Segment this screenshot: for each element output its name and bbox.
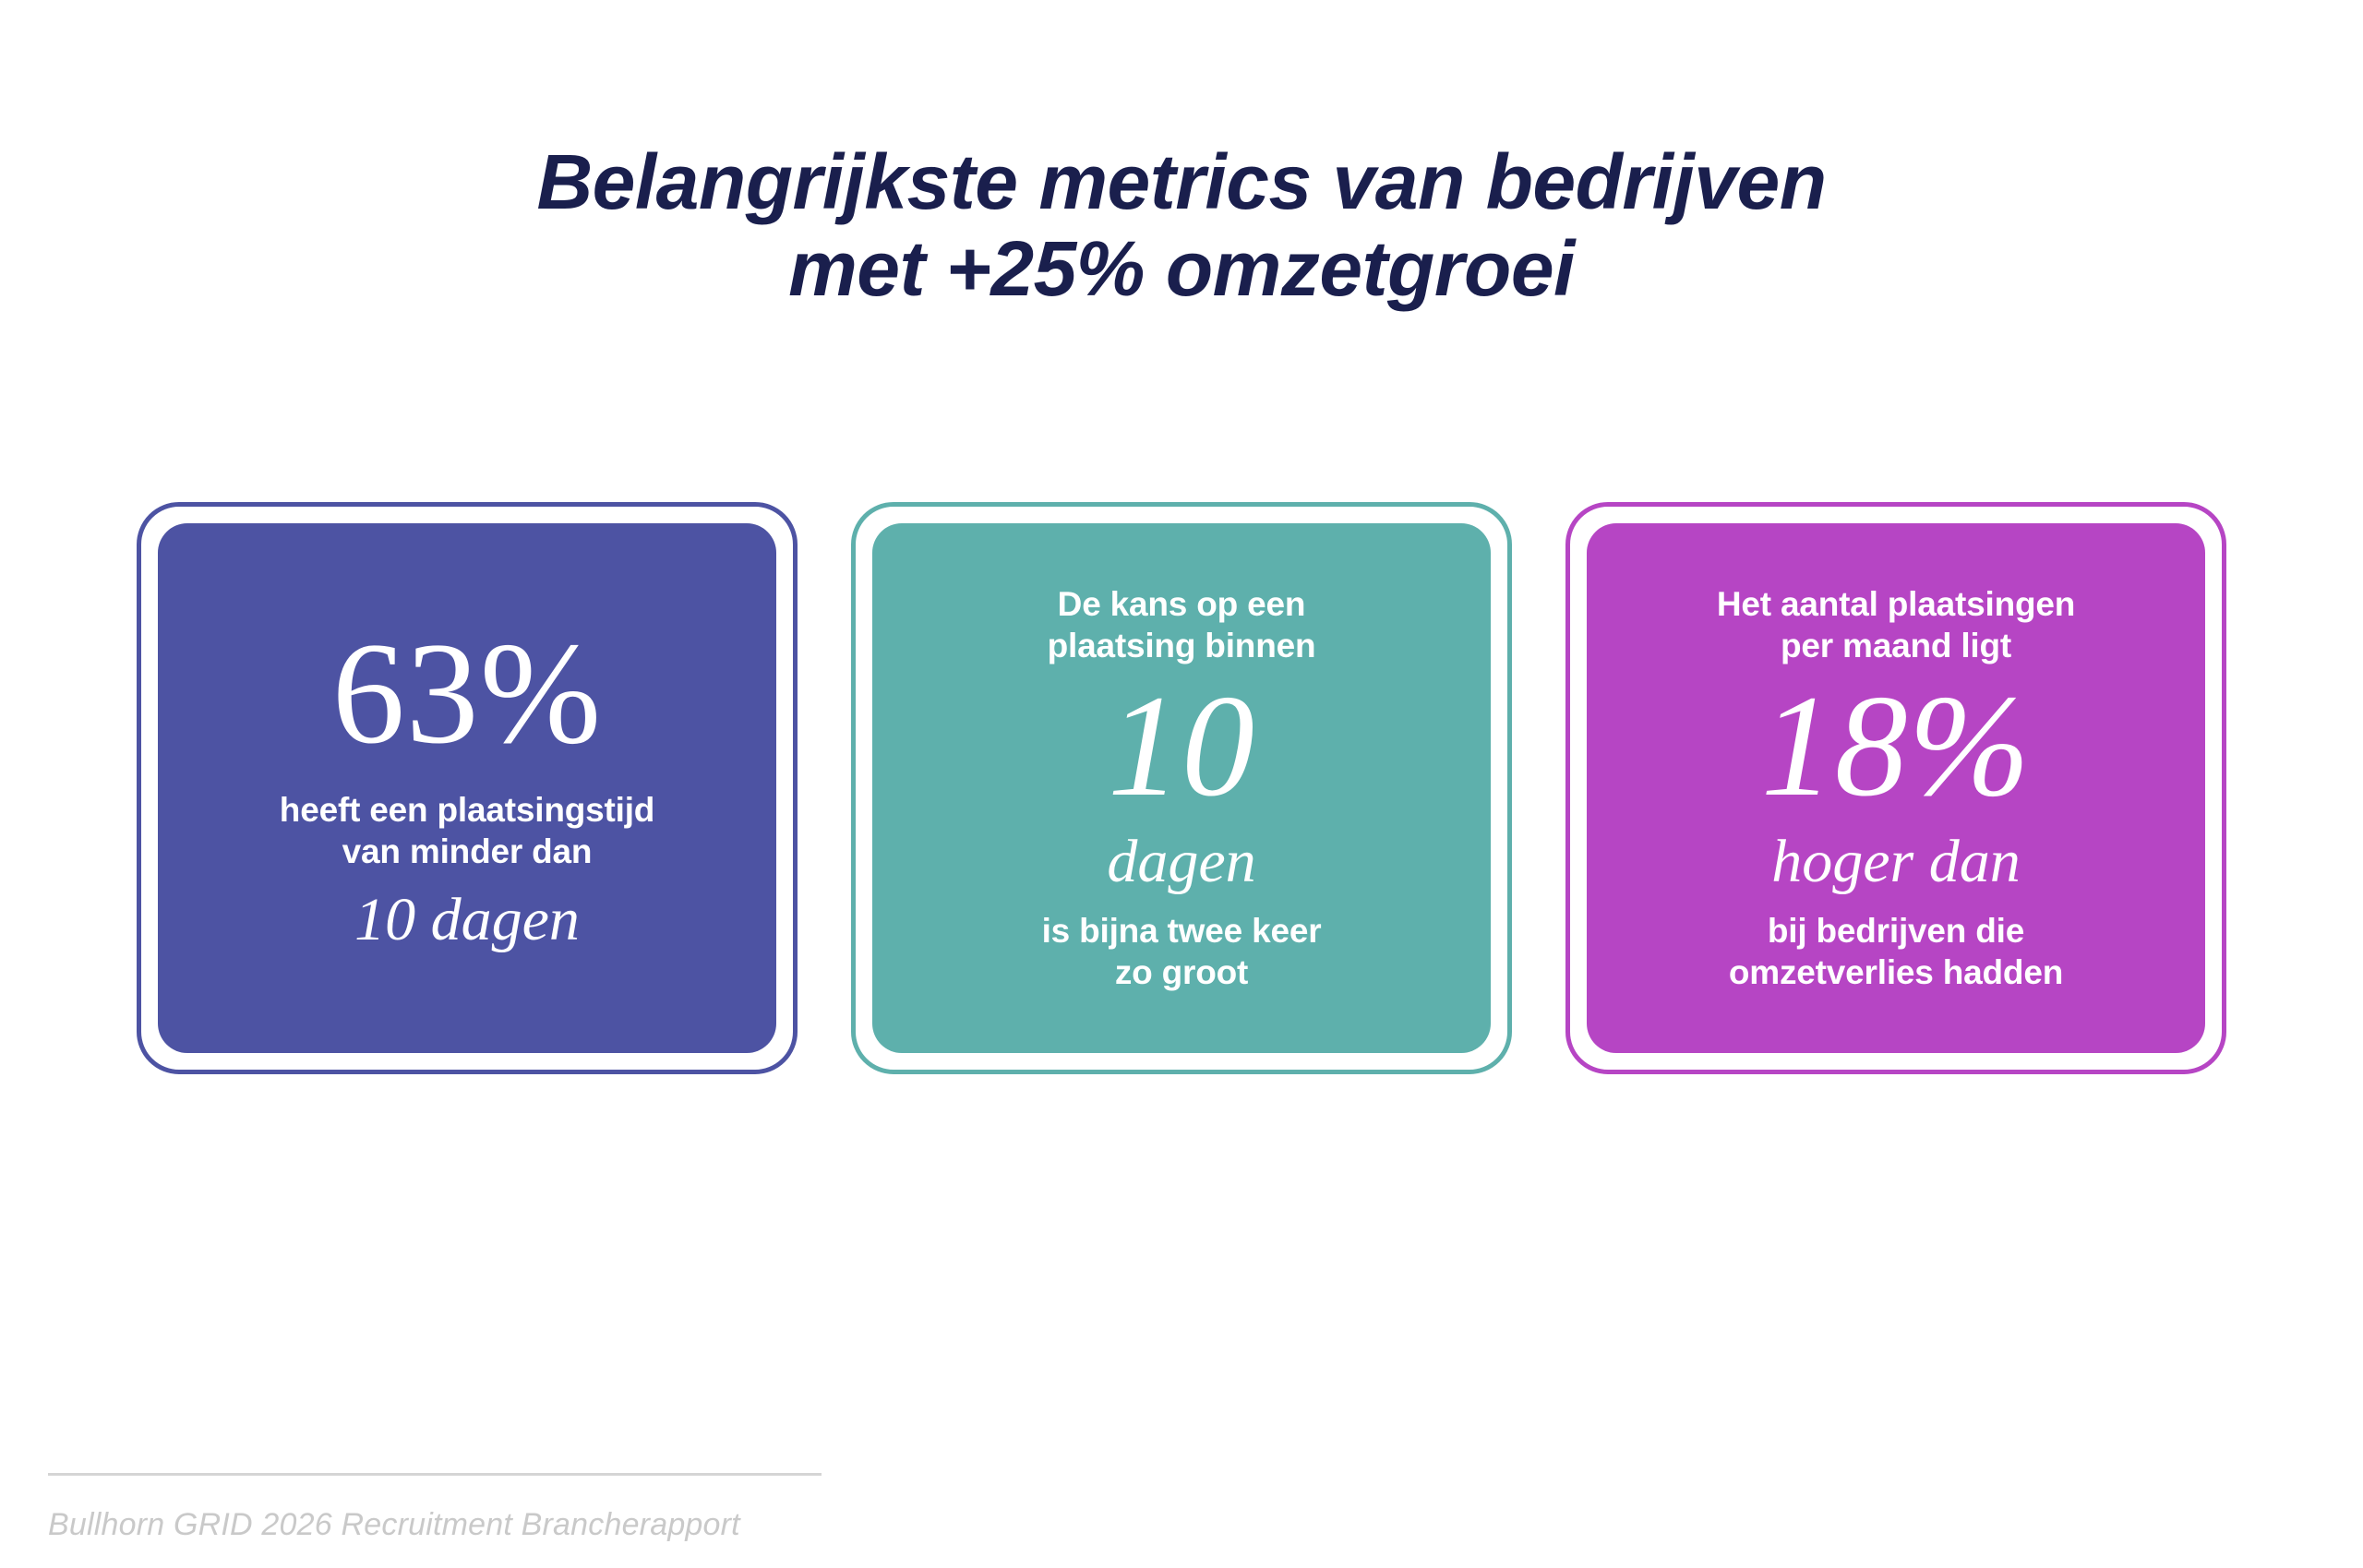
metric-card-row: 63% heeft een plaatsingstijd van minder … bbox=[137, 502, 2226, 1074]
metric-label-line-4: zo groot bbox=[1115, 952, 1248, 993]
metric-card-body: 63% heeft een plaatsingstijd van minder … bbox=[158, 523, 776, 1053]
metric-label-line-3: is bijna twee keer bbox=[1042, 910, 1322, 952]
footer-source-text: Bullhorn GRID 2026 Recruitment Branchera… bbox=[48, 1507, 823, 1543]
metric-card-placement-time: 63% heeft een plaatsingstijd van minder … bbox=[137, 502, 798, 1074]
page-title-line-2: met +25% omzetgroei bbox=[0, 225, 2363, 312]
metric-label-line-3: bij bedrijven die bbox=[1768, 910, 2024, 952]
metric-value-secondary: dagen bbox=[1107, 827, 1255, 897]
metric-value-primary: 10 bbox=[1108, 674, 1255, 820]
metric-label-line-2: van minder dan bbox=[342, 831, 593, 872]
metric-value-secondary: 10 dagen bbox=[354, 885, 580, 955]
page-title-line-1: Belangrijkste metrics van bedrijven bbox=[0, 138, 2363, 225]
metric-label-line-1: Het aantal plaatsingen bbox=[1717, 583, 2075, 625]
metric-value-primary: 18% bbox=[1761, 674, 2032, 820]
metric-card-body: Het aantal plaatsingen per maand ligt 18… bbox=[1587, 523, 2205, 1053]
page-title: Belangrijkste metrics van bedrijven met … bbox=[0, 138, 2363, 312]
metric-label-line-2: per maand ligt bbox=[1781, 625, 2011, 666]
metric-label-line-2: plaatsing binnen bbox=[1048, 625, 1316, 666]
metric-label-line-1: heeft een plaatsingstijd bbox=[280, 789, 654, 831]
footer-divider bbox=[48, 1473, 822, 1476]
metric-label-line-4: omzetverlies hadden bbox=[1729, 952, 2063, 993]
footer: Bullhorn GRID 2026 Recruitment Branchera… bbox=[48, 1473, 823, 1543]
metric-card-placement-odds: De kans op een plaatsing binnen 10 dagen… bbox=[851, 502, 1512, 1074]
metric-label-line-1: De kans op een bbox=[1058, 583, 1306, 625]
metric-card-placements-per-month: Het aantal plaatsingen per maand ligt 18… bbox=[1565, 502, 2226, 1074]
metric-value-primary: 63% bbox=[332, 621, 603, 767]
slide-root: Belangrijkste metrics van bedrijven met … bbox=[0, 0, 2363, 1568]
metric-value-secondary: hoger dan bbox=[1771, 827, 2020, 897]
metric-card-body: De kans op een plaatsing binnen 10 dagen… bbox=[872, 523, 1491, 1053]
